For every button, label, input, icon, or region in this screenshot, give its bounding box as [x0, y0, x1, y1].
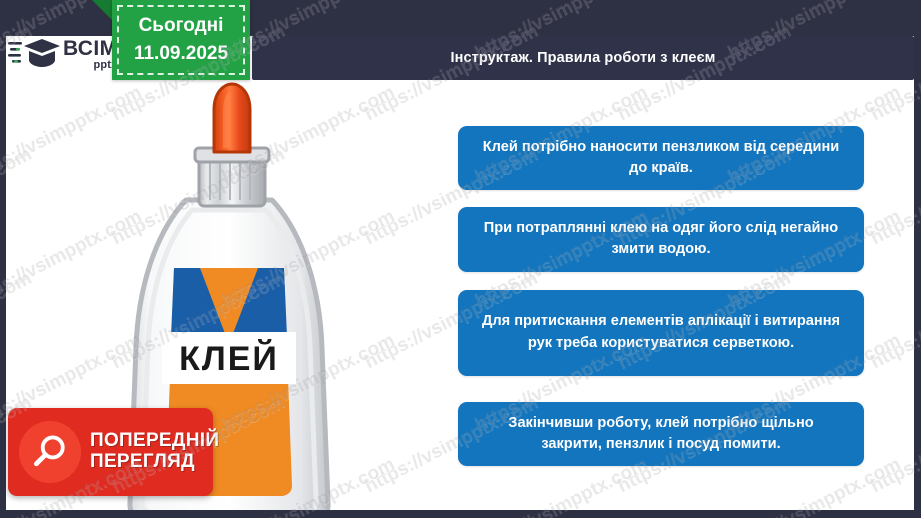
magnifier-icon [19, 421, 81, 483]
rule-item-4: Закінчивши роботу, клей потрібно щільно … [458, 402, 864, 466]
rules-list: Клей потрібно наносити пензликом від сер… [458, 126, 864, 466]
graduation-cap-icon [8, 34, 62, 74]
rule-item-1: Клей потрібно наносити пензликом від сер… [458, 126, 864, 190]
left-border-band [0, 0, 6, 518]
slide-title-bar: Інструктаж. Правила роботи з клеєм [252, 36, 914, 80]
glue-label-text: КЛЕЙ [179, 339, 279, 378]
today-label: Сьогодні [139, 15, 224, 37]
logo-title: ВСІМ [63, 38, 117, 59]
right-border-band [914, 0, 921, 518]
brand-logo: ВСІМ pptx [8, 32, 126, 76]
preview-badge[interactable]: ПОПЕРЕДНІЙ ПЕРЕГЛЯД [8, 408, 213, 496]
preview-line-2: ПЕРЕГЛЯД [90, 451, 195, 472]
today-date: 11.09.2025 [134, 43, 228, 65]
bottom-border-band [0, 510, 921, 518]
rule-item-3: Для притискання елементів аплікації і ви… [458, 290, 864, 376]
today-date-badge: Сьогодні 11.09.2025 [112, 0, 250, 80]
preview-line-1: ПОПЕРЕДНІЙ [90, 430, 219, 451]
page-title: Інструктаж. Правила роботи з клеєм [450, 50, 715, 66]
rule-item-2: При потраплянні клею на одяг його слід н… [458, 207, 864, 271]
slide: КЛЕЙ [0, 0, 921, 518]
